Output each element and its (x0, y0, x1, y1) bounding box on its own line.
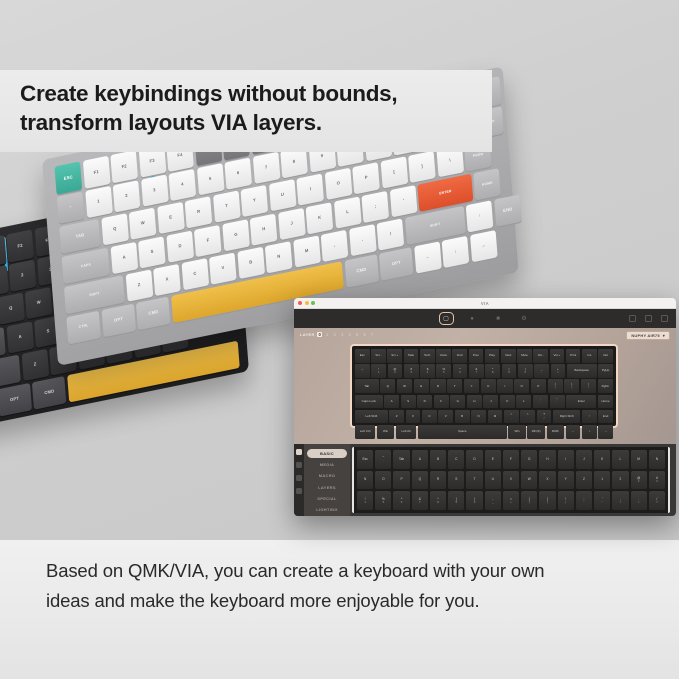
palette-key-label: N (656, 458, 658, 461)
via-key-label: Right Shift (560, 415, 574, 418)
palette-key[interactable]: L (612, 450, 628, 469)
palette-key-sublabel: 9 (456, 501, 458, 504)
via-key[interactable]: V (438, 410, 453, 424)
via-key[interactable]: Dnd (452, 349, 467, 363)
palette-key[interactable]: 1 (594, 471, 610, 490)
layer-button-3[interactable]: 3 (340, 332, 345, 337)
keymap-icon[interactable] (296, 449, 302, 455)
keycap: H (250, 213, 278, 246)
via-key-row: Left CtrlWinLeft AltSpaceWinWin(F)RGB←↓→ (355, 425, 613, 439)
palette-key-label: X (546, 478, 548, 481)
via-key-label: ← (572, 430, 575, 433)
lightbulb-icon[interactable]: ● (467, 314, 478, 323)
palette-key[interactable]: [{ (521, 491, 537, 510)
palette-key[interactable]: E (485, 450, 501, 469)
via-key-label: V (445, 415, 447, 418)
palette-key[interactable]: D (466, 450, 482, 469)
via-key-label: B (461, 415, 463, 418)
palette-key[interactable]: U (485, 471, 501, 490)
via-key-label: Ins (587, 354, 591, 357)
palette-key[interactable]: ~` (375, 450, 391, 469)
via-key-label: Enter (578, 400, 585, 403)
palette-key-label: O (382, 478, 384, 481)
palette-key-sublabel: " (602, 501, 603, 504)
via-key-sublabel: . (527, 417, 528, 420)
via-key[interactable]: Enter (566, 395, 596, 409)
minimize-panel-icon[interactable] (629, 315, 636, 322)
via-key[interactable]: → (598, 425, 613, 439)
keycap: W (129, 207, 157, 240)
via-key[interactable]: Next (501, 349, 516, 363)
palette-key[interactable]: Q (412, 471, 428, 490)
keycap: . (349, 224, 377, 257)
via-key[interactable]: )0 (518, 364, 533, 378)
layer-button-6[interactable]: 6 (362, 332, 367, 337)
gear-icon[interactable]: ⚙ (519, 314, 530, 323)
via-key[interactable]: %5 (436, 364, 451, 378)
via-key-label: PgDn (602, 385, 610, 388)
via-key[interactable]: !1 (371, 364, 386, 378)
keycap: → (470, 230, 498, 263)
keycap: U (269, 179, 297, 212)
palette-key-label: A (419, 458, 421, 461)
layer-button-1[interactable]: 1 (325, 332, 330, 337)
via-key[interactable]: J (483, 395, 498, 409)
via-key[interactable]: G (450, 395, 465, 409)
via-key-sublabel: ' (557, 401, 558, 404)
via-key[interactable]: M (488, 410, 503, 424)
via-key-sublabel: \ (588, 386, 589, 389)
via-key-label: Play (489, 354, 495, 357)
panel-icon[interactable] (645, 315, 652, 322)
via-key-label: Backspace (574, 369, 589, 372)
via-key-label: Left Shift (365, 415, 377, 418)
keycap: C (181, 258, 209, 291)
category-item-macro[interactable]: MACRO (307, 471, 347, 480)
palette-key[interactable]: R (430, 471, 446, 490)
palette-key[interactable]: M (631, 450, 647, 469)
via-key[interactable]: #3 (404, 364, 419, 378)
palette-key[interactable]: !1 (357, 491, 373, 510)
via-key-label: Next (505, 354, 511, 357)
via-key[interactable]: Mute (517, 349, 532, 363)
palette-key[interactable]: W (521, 471, 537, 490)
palette-key[interactable]: ;: (576, 491, 592, 510)
via-key-label: Task (408, 354, 414, 357)
palette-key-sublabel: 5 (383, 501, 385, 504)
category-item-special[interactable]: SPECIAL (307, 494, 347, 503)
keycap: 5 (196, 163, 224, 196)
palette-key[interactable]: J (576, 450, 592, 469)
category-list[interactable]: BASICMEDIAMACROLAYERSSPECIALLIGHTING (304, 444, 350, 516)
via-key[interactable]: ↓ (582, 425, 597, 439)
via-key[interactable]: @2 (388, 364, 403, 378)
layer-selector[interactable]: LAYER 0 1 2 3 4 5 6 7 (300, 332, 375, 337)
via-key-label: L (523, 400, 525, 403)
via-key[interactable]: Caps Lock (355, 395, 383, 409)
palette-key[interactable]: &7 (412, 491, 428, 510)
via-key-label: Win (383, 430, 388, 433)
window-titlebar: VIA (294, 298, 676, 309)
via-key[interactable]: Z (389, 410, 404, 424)
palette-key[interactable]: (9 (448, 491, 464, 510)
help-icon[interactable] (661, 315, 668, 322)
palette-key[interactable]: *8 (430, 491, 446, 510)
palette-key[interactable]: @2 (631, 471, 647, 490)
headline-banner: Create keybindings without bounds, trans… (0, 70, 492, 152)
palette-key[interactable]: N (357, 471, 373, 490)
palette-key[interactable]: Y (558, 471, 574, 490)
palette-key[interactable]: V (503, 471, 519, 490)
via-key[interactable]: Vol + (550, 349, 565, 363)
palette-key-label: P (401, 478, 403, 481)
keycap: ← (414, 241, 442, 274)
keycap: ESC (54, 161, 82, 194)
via-key[interactable]: Task (404, 349, 419, 363)
app-body: LAYER 0 1 2 3 4 5 6 7 NUPHY AIR75 ▾ EscS… (294, 328, 676, 516)
via-key-sublabel: 4 (427, 371, 429, 374)
via-key[interactable]: ^6 (453, 364, 468, 378)
palette-key[interactable]: O (375, 471, 391, 490)
via-key[interactable]: H (467, 395, 482, 409)
palette-key[interactable]: Z (576, 471, 592, 490)
bolt-icon[interactable] (296, 488, 302, 494)
keycap: I (297, 173, 325, 206)
via-key-sublabel: 8 (492, 371, 494, 374)
via-key[interactable]: Backspace (567, 364, 597, 378)
palette-row: !1%5^6&7*8(9)0-_=+[{]}\|;:'",<.>/? (357, 491, 665, 510)
palette-key[interactable]: P (393, 471, 409, 490)
via-key-label: P (537, 385, 539, 388)
keycap: Z (21, 348, 49, 381)
via-key[interactable]: >. (520, 410, 535, 424)
via-key[interactable]: Win(F) (527, 425, 545, 439)
keycap: S (138, 236, 166, 269)
chevron-down-icon: ▾ (663, 333, 665, 338)
layer-button-4[interactable]: 4 (347, 332, 352, 337)
palette-key[interactable]: N (649, 450, 665, 469)
keycap: OPT (379, 247, 414, 281)
via-key[interactable]: R (430, 379, 445, 393)
palette-key[interactable]: ^6 (393, 491, 409, 510)
keycap: A (110, 242, 138, 275)
keycap: , (321, 229, 349, 262)
app-toolbar: ▢ ● ■ ⚙ (294, 309, 676, 328)
via-key[interactable]: Right Shift (553, 410, 580, 424)
palette-key-label: H (546, 458, 548, 461)
keycap: G (222, 219, 250, 252)
via-key[interactable]: += (551, 364, 566, 378)
keycap: D (166, 230, 194, 263)
via-key-label: Y (470, 385, 472, 388)
via-key[interactable]: E (414, 379, 429, 393)
category-item-basic[interactable]: BASIC (307, 449, 347, 458)
sliders-icon[interactable] (296, 462, 302, 468)
via-key[interactable]: Y (464, 379, 479, 393)
via-key-label: N (477, 415, 479, 418)
via-key[interactable]: Scr - (371, 349, 386, 363)
via-key[interactable]: O (514, 379, 529, 393)
via-key-label: M (494, 415, 497, 418)
palette-key[interactable]: S (448, 471, 464, 490)
palette-key-label: T (474, 478, 476, 481)
via-key[interactable]: RGB (547, 425, 565, 439)
palette-key-sublabel: } (547, 501, 548, 504)
palette-key[interactable]: -_ (485, 491, 501, 510)
via-key[interactable]: D (417, 395, 432, 409)
via-key[interactable]: End (598, 410, 613, 424)
via-key[interactable]: S (401, 395, 416, 409)
keycap: 4 (169, 169, 197, 202)
key-icon[interactable] (296, 475, 302, 481)
via-key[interactable]: Left Shift (355, 410, 388, 424)
via-key[interactable]: I (497, 379, 512, 393)
keycap: F1 (0, 235, 6, 268)
via-key-label: Scr + (391, 354, 398, 357)
palette-key-sublabel: 1 (364, 501, 366, 504)
via-key[interactable]: W (397, 379, 412, 393)
palette-key-sublabel: 6 (401, 501, 403, 504)
caption-line-2: ideas and make the keyboard more enjoyab… (46, 586, 646, 616)
category-item-lighting[interactable]: LIGHTING (307, 505, 347, 514)
via-key-label: A (391, 400, 393, 403)
palette-key[interactable]: ]} (539, 491, 555, 510)
via-key-label: RGB (552, 430, 559, 433)
keyboard-select-dropdown[interactable]: NUPHY AIR75 ▾ (626, 331, 670, 340)
keycap: F2 (6, 229, 34, 262)
headline-line-2: transform layouts VIA layers. (20, 109, 474, 138)
via-key-sublabel: , (511, 417, 512, 420)
palette-key[interactable]: '" (594, 491, 610, 510)
keycap: [ (380, 156, 408, 189)
palette-key[interactable]: K (594, 450, 610, 469)
via-key[interactable]: Vol - (533, 349, 548, 363)
via-key[interactable]: _- (534, 364, 549, 378)
via-key[interactable]: Left Alt (396, 425, 416, 439)
via-key-label: F (440, 400, 442, 403)
palette-key[interactable]: %5 (375, 491, 391, 510)
via-key-label: Left Ctrl (360, 430, 371, 433)
keycap: 1 (0, 265, 8, 298)
via-key[interactable]: K (500, 395, 515, 409)
via-key[interactable]: Voice (436, 349, 451, 363)
layer-button-0[interactable]: 0 (317, 332, 322, 337)
palette-key[interactable]: A (412, 450, 428, 469)
keycap: CTRL (66, 310, 101, 344)
via-key[interactable]: PgDn (598, 379, 613, 393)
via-key[interactable]: Prev (469, 349, 484, 363)
palette-key[interactable]: T (466, 471, 482, 490)
layer-button-7[interactable]: 7 (370, 332, 375, 337)
via-key[interactable]: N (471, 410, 486, 424)
palette-key-sublabel: ? (656, 501, 658, 504)
palette-key-sublabel: 7 (419, 501, 421, 504)
via-key[interactable]: <, (504, 410, 519, 424)
via-key[interactable]: Esc (355, 349, 370, 363)
palette-key-label: Q (419, 478, 421, 481)
keycap: R (185, 196, 213, 229)
via-key[interactable]: (9 (502, 364, 517, 378)
keycode-palette-section: BASICMEDIAMACROLAYERSSPECIALLIGHTING Esc… (294, 444, 676, 516)
via-key[interactable]: Ins (582, 349, 597, 363)
palette-row: NOPQRSTUVWXYZ12@2#3 (357, 471, 665, 490)
via-key[interactable]: "' (550, 395, 565, 409)
palette-key[interactable]: 2 (612, 471, 628, 490)
palette-key[interactable]: #3 (649, 471, 665, 490)
via-key-label: H (473, 400, 475, 403)
palette-key-sublabel: _ (492, 501, 494, 504)
keyboard-icon[interactable]: ▢ (441, 314, 452, 323)
palette-key-label: K (601, 458, 603, 461)
category-rail[interactable] (294, 444, 304, 516)
via-key[interactable]: Print (566, 349, 581, 363)
via-key-label: X (412, 415, 414, 418)
via-key[interactable]: *8 (485, 364, 500, 378)
via-key[interactable]: U (481, 379, 496, 393)
palette-key[interactable]: I (558, 450, 574, 469)
palette-key-label: B (437, 458, 439, 461)
via-key-label: Win (515, 430, 520, 433)
via-key-sublabel: 2 (394, 371, 396, 374)
palette-key[interactable]: G (521, 450, 537, 469)
via-key-row: TabQWERTYUIOP{[}]|\PgDn (355, 379, 613, 393)
keycap: B (237, 246, 265, 279)
keycap: ] (408, 150, 436, 183)
via-app-window[interactable]: VIA ▢ ● ■ ⚙ LAYER 0 1 2 3 4 5 6 (294, 298, 676, 516)
keycap: N (265, 241, 293, 274)
palette-key[interactable]: Esc (357, 450, 373, 469)
via-key[interactable]: }] (564, 379, 579, 393)
palette-key[interactable]: \| (558, 491, 574, 510)
layer-button-2[interactable]: 2 (332, 332, 337, 337)
via-key[interactable]: B (455, 410, 470, 424)
palette-key-sublabel: < (620, 501, 622, 504)
via-key-label: T (454, 385, 456, 388)
palette-key[interactable]: X (539, 471, 555, 490)
via-key-label: Esc (360, 354, 365, 357)
via-key[interactable]: ↑ (582, 410, 597, 424)
via-key[interactable]: Q (380, 379, 395, 393)
save-icon[interactable]: ■ (493, 314, 504, 323)
palette-key[interactable]: /? (649, 491, 665, 510)
via-key[interactable]: Win (377, 425, 395, 439)
palette-key[interactable]: Tab (393, 450, 409, 469)
palette-key-sublabel: | (565, 501, 566, 504)
via-keymap-preview[interactable]: EscScr -Scr +TaskSrchVoiceDndPrevPlayNex… (350, 344, 618, 428)
keycap: W (25, 287, 53, 320)
via-key-sublabel: [ (555, 386, 556, 389)
via-key-label: S (407, 400, 409, 403)
via-key[interactable]: Tab (355, 379, 379, 393)
via-key[interactable]: Space (418, 425, 507, 439)
via-key-label: Print (570, 354, 576, 357)
via-key-label: Caps Lock (362, 400, 376, 403)
palette-key[interactable]: )0 (466, 491, 482, 510)
via-key[interactable]: P (531, 379, 546, 393)
via-key-label: PgUp (602, 369, 610, 372)
palette-key[interactable]: F (503, 450, 519, 469)
via-key-label: Dnd (457, 354, 463, 357)
palette-key-sublabel: { (529, 501, 530, 504)
via-key[interactable]: Scr + (387, 349, 402, 363)
via-key-sublabel: = (557, 371, 559, 374)
keycap: T (213, 190, 241, 223)
via-key[interactable]: A (384, 395, 399, 409)
palette-key[interactable]: H (539, 450, 555, 469)
via-key-sublabel: 5 (443, 371, 445, 374)
keyboard-select-value: NUPHY AIR75 (631, 333, 659, 338)
via-key-label: Home (602, 400, 610, 403)
palette-key[interactable]: ,< (612, 491, 628, 510)
keycap: 7 (252, 152, 280, 185)
via-key-sublabel: / (544, 417, 545, 420)
palette-key[interactable]: .> (631, 491, 647, 510)
palette-key-label: S (455, 478, 457, 481)
keycap: CMD (136, 296, 171, 330)
via-key[interactable]: &7 (469, 364, 484, 378)
via-key[interactable]: L (516, 395, 531, 409)
via-key[interactable]: ?/ (537, 410, 552, 424)
window-title: VIA (294, 301, 676, 306)
via-key-sublabel: 0 (525, 371, 527, 374)
via-key-sublabel: 9 (508, 371, 510, 374)
via-key-label: End (603, 415, 608, 418)
palette-key[interactable]: =+ (503, 491, 519, 510)
via-key-label: ↓ (589, 430, 591, 433)
palette-key-sublabel: 8 (437, 501, 439, 504)
via-key-sublabel: 1 (378, 371, 380, 374)
via-key[interactable]: Play (485, 349, 500, 363)
layer-button-5[interactable]: 5 (355, 332, 360, 337)
keycap: 6 (224, 157, 252, 190)
via-key[interactable]: Home (598, 395, 613, 409)
via-key-label: U (487, 385, 489, 388)
via-key[interactable]: T (447, 379, 462, 393)
via-key[interactable]: F (434, 395, 449, 409)
via-key[interactable]: ~` (355, 364, 370, 378)
category-item-media[interactable]: MEDIA (307, 460, 347, 469)
keycap: V (209, 252, 237, 285)
via-key-label: Scr - (375, 354, 381, 357)
palette-key-sublabel: ` (383, 460, 384, 463)
via-key[interactable]: Srch (420, 349, 435, 363)
via-key-label: C (428, 415, 430, 418)
category-item-layers[interactable]: LAYERS (307, 483, 347, 492)
via-key[interactable]: Win (508, 425, 526, 439)
via-key[interactable]: $4 (420, 364, 435, 378)
palette-key-label: L (620, 458, 622, 461)
palette-key[interactable]: C (448, 450, 464, 469)
via-key-sublabel: ; (540, 401, 541, 404)
via-key[interactable]: C (422, 410, 437, 424)
palette-key-label: 1 (601, 478, 603, 481)
via-key[interactable]: Left Ctrl (355, 425, 375, 439)
gear-glyph: ⚙ (519, 314, 530, 323)
keycap: O (325, 168, 353, 201)
keycap: X (153, 263, 181, 296)
via-key[interactable]: PgUp (598, 364, 613, 378)
via-key[interactable]: {[ (548, 379, 563, 393)
keycode-palette[interactable]: Esc~`TabABCDEFGHIJKLMNNOPQRSTUVWXYZ12@2#… (352, 447, 670, 513)
palette-key-label: W (528, 478, 531, 481)
via-key[interactable]: X (406, 410, 421, 424)
via-key[interactable]: :; (533, 395, 548, 409)
via-key[interactable]: |\ (581, 379, 596, 393)
palette-key-label: Esc (362, 458, 367, 461)
via-key[interactable]: ← (566, 425, 581, 439)
via-key[interactable]: Del (598, 349, 613, 363)
palette-key[interactable]: B (430, 450, 446, 469)
